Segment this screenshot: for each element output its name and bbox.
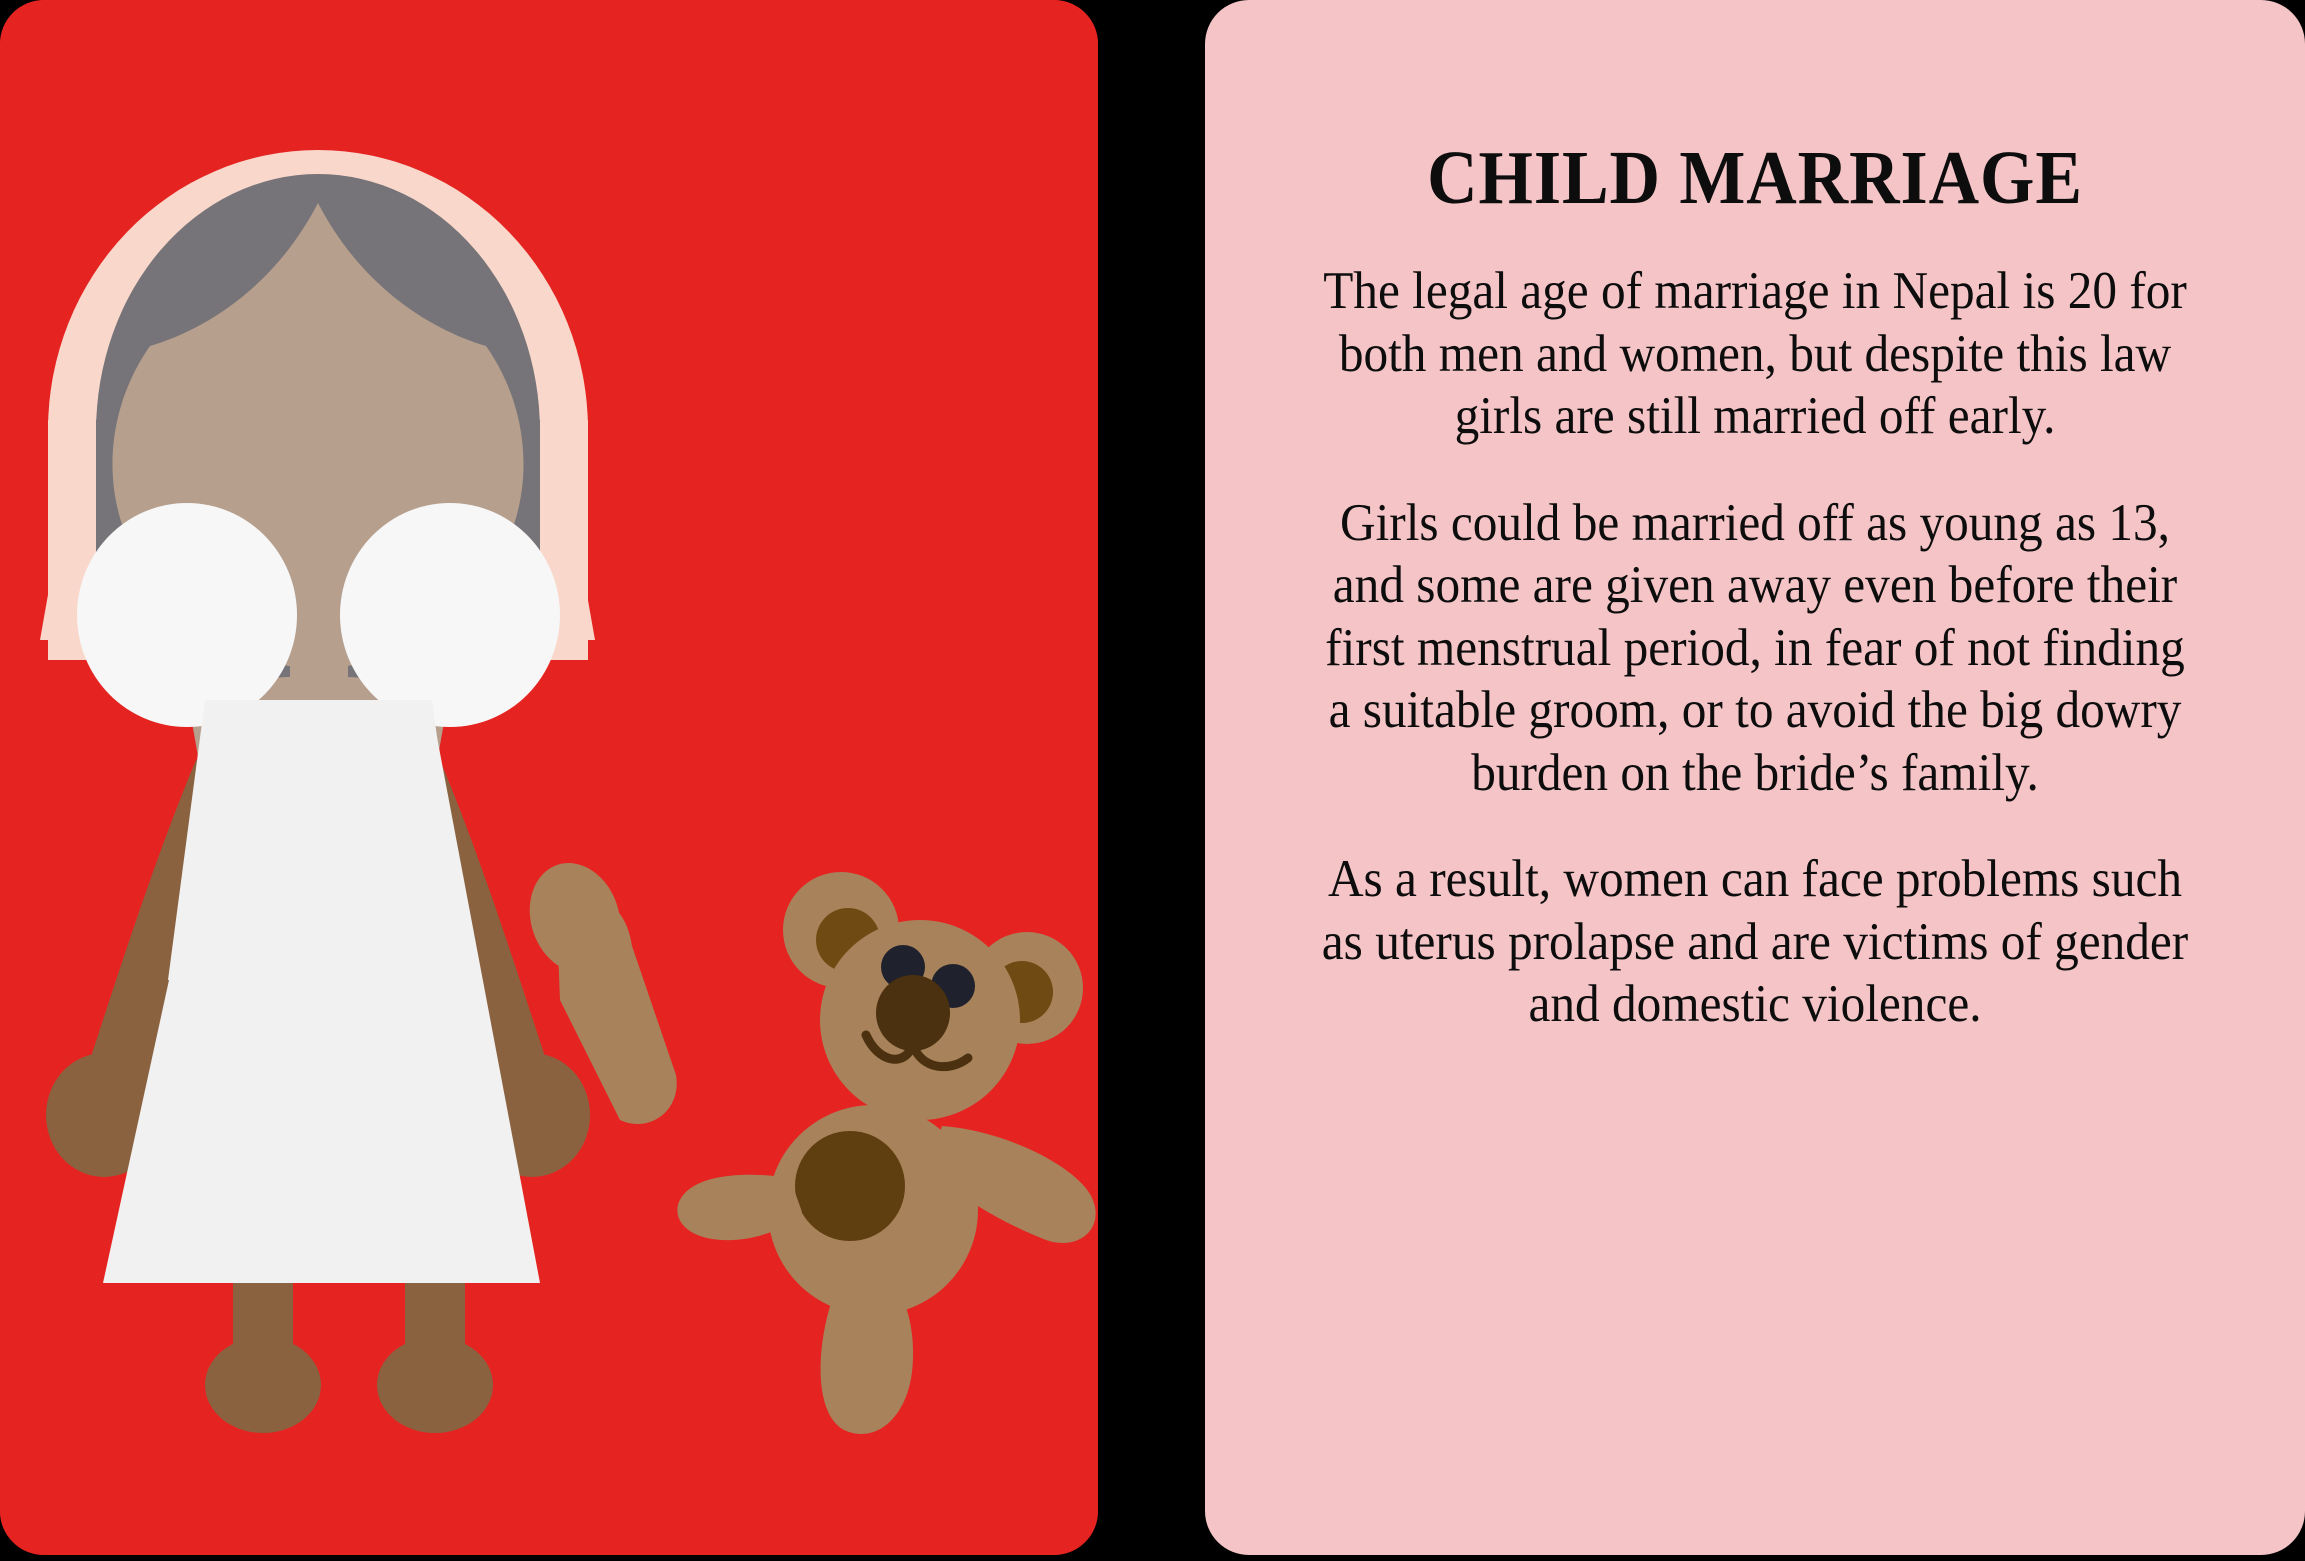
- page-title: CHILD MARRIAGE: [1323, 0, 2188, 216]
- teddy-belly: [795, 1131, 905, 1241]
- body-paragraph: Girls could be married off as young as 1…: [1318, 492, 2192, 805]
- left-sleeve: [77, 503, 297, 727]
- illustration-card: [0, 0, 1098, 1555]
- body-paragraph: As a result, women can face problems suc…: [1318, 848, 2192, 1036]
- text-card: CHILD MARRIAGE The legal age of marriage…: [1205, 0, 2305, 1555]
- body-paragraph: The legal age of marriage in Nepal is 20…: [1318, 260, 2192, 448]
- left-foot: [205, 1337, 321, 1433]
- right-sleeve: [340, 503, 560, 727]
- right-foot: [377, 1337, 493, 1433]
- child-bride-illustration: [0, 0, 1098, 1555]
- dress-bodice: [168, 700, 470, 980]
